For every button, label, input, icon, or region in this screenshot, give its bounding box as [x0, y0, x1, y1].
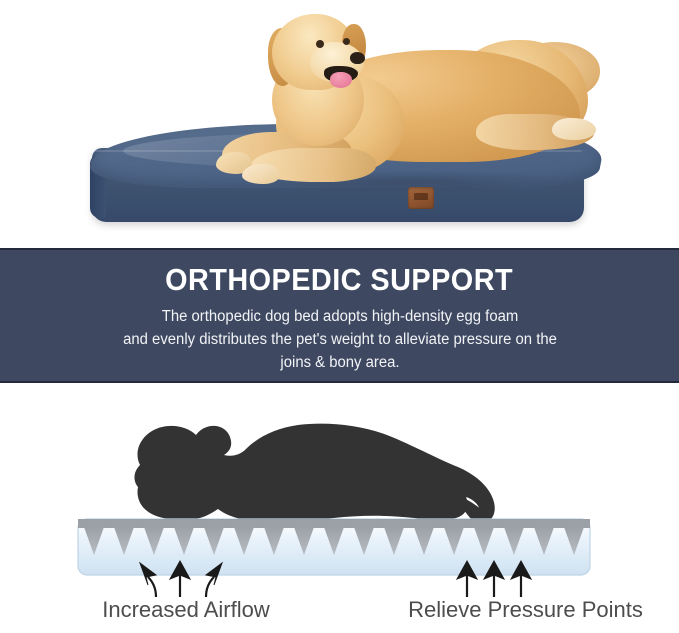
dog-back-paw [552, 118, 596, 140]
banner-title: ORTHOPEDIC SUPPORT [166, 263, 514, 297]
hero-photo-panel [0, 0, 679, 248]
banner-description: The orthopedic dog bed adopts high-densi… [52, 306, 628, 374]
egg-foam-diagram-panel: Increased Airflow Relieve Pressure Point… [0, 385, 679, 633]
pressure-arrows [457, 561, 531, 597]
banner-description-line-2: and evenly distributes the pet's weight … [52, 329, 628, 352]
airflow-arrow-right-stem [206, 577, 214, 597]
diagram-captions: Increased Airflow Relieve Pressure Point… [0, 597, 679, 623]
foam-top-band [78, 519, 590, 528]
egg-foam-mattress [78, 519, 590, 575]
foam-cross-section-svg [0, 385, 679, 597]
golden-retriever-photo [180, 2, 600, 202]
caption-increased-airflow: Increased Airflow [0, 597, 372, 623]
caption-relieve-pressure-points: Relieve Pressure Points [372, 597, 679, 623]
banner-description-line-3: joins & bony area. [52, 352, 628, 375]
dog-right-eye [343, 38, 350, 45]
dog-left-eye [316, 40, 324, 48]
orthopedic-support-banner: ORTHOPEDIC SUPPORT The orthopedic dog be… [0, 248, 679, 383]
banner-description-line-1: The orthopedic dog bed adopts high-densi… [52, 306, 628, 329]
dog-front-right-paw [242, 164, 280, 184]
dog-nose [350, 52, 365, 64]
airflow-arrow-left-stem [148, 577, 156, 597]
dog-silhouette [134, 424, 501, 535]
hero-photo-stage [0, 0, 679, 248]
